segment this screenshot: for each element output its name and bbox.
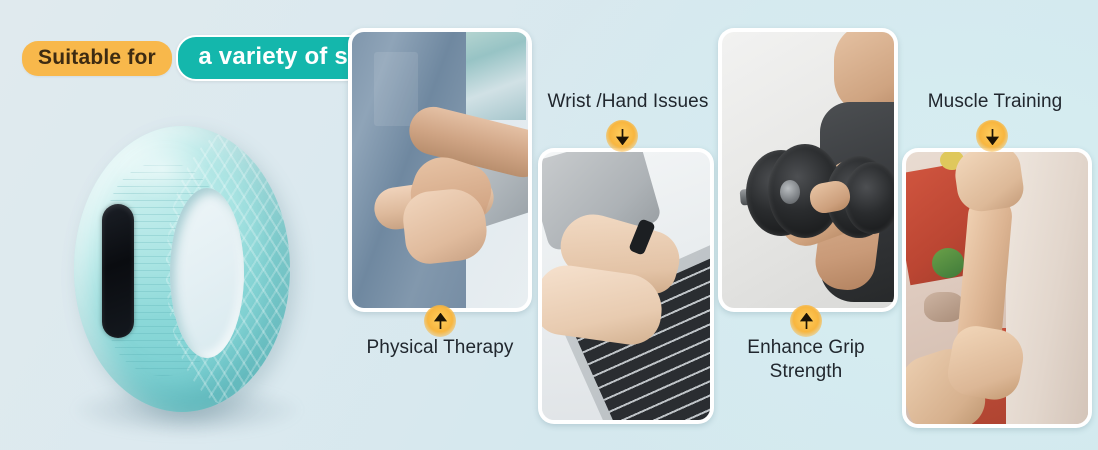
scenario-photo-muscle-training: [902, 148, 1092, 428]
arrow-down-icon: [606, 120, 638, 152]
photo-man-curling-dumbbell: [722, 32, 894, 308]
photo-frame: [352, 32, 528, 308]
headline-line-1: Suitable for: [22, 41, 172, 76]
photo-rock-climbing-wall-grip: [906, 152, 1088, 424]
promo-banner: Suitable for a variety of scenarios: [0, 0, 1098, 450]
grip-ring-finger-slot: [102, 204, 134, 338]
scenario-photo-enhance-grip-strength: [718, 28, 898, 312]
grip-ring-body: [74, 126, 290, 412]
grip-ring-inner-hole: [170, 188, 244, 358]
photo-hands-typing-on-laptop: [542, 152, 710, 420]
photo-frame: [906, 152, 1088, 424]
label-wrist-hand-issues: Wrist /Hand Issues: [520, 90, 736, 114]
photo-therapist-holding-patient-hand: [352, 32, 528, 308]
scenario-photo-physical-therapy: [348, 28, 532, 312]
label-muscle-training: Muscle Training: [900, 90, 1090, 114]
athlete-head: [834, 32, 894, 112]
photo-frame: [542, 152, 710, 420]
label-enhance-grip-strength: Enhance Grip Strength: [722, 336, 890, 384]
arrow-up-icon: [424, 305, 456, 337]
scenario-photo-wrist-hand-issues: [538, 148, 714, 424]
dumbbell-plate: [844, 162, 894, 234]
label-physical-therapy: Physical Therapy: [340, 336, 540, 360]
product-image-grip-ring: [56, 126, 316, 450]
climbing-hold-green: [932, 248, 964, 278]
arrow-down-icon: [976, 120, 1008, 152]
dumbbell-collar: [780, 180, 800, 204]
photo-frame: [722, 32, 894, 308]
arrow-up-icon: [790, 305, 822, 337]
